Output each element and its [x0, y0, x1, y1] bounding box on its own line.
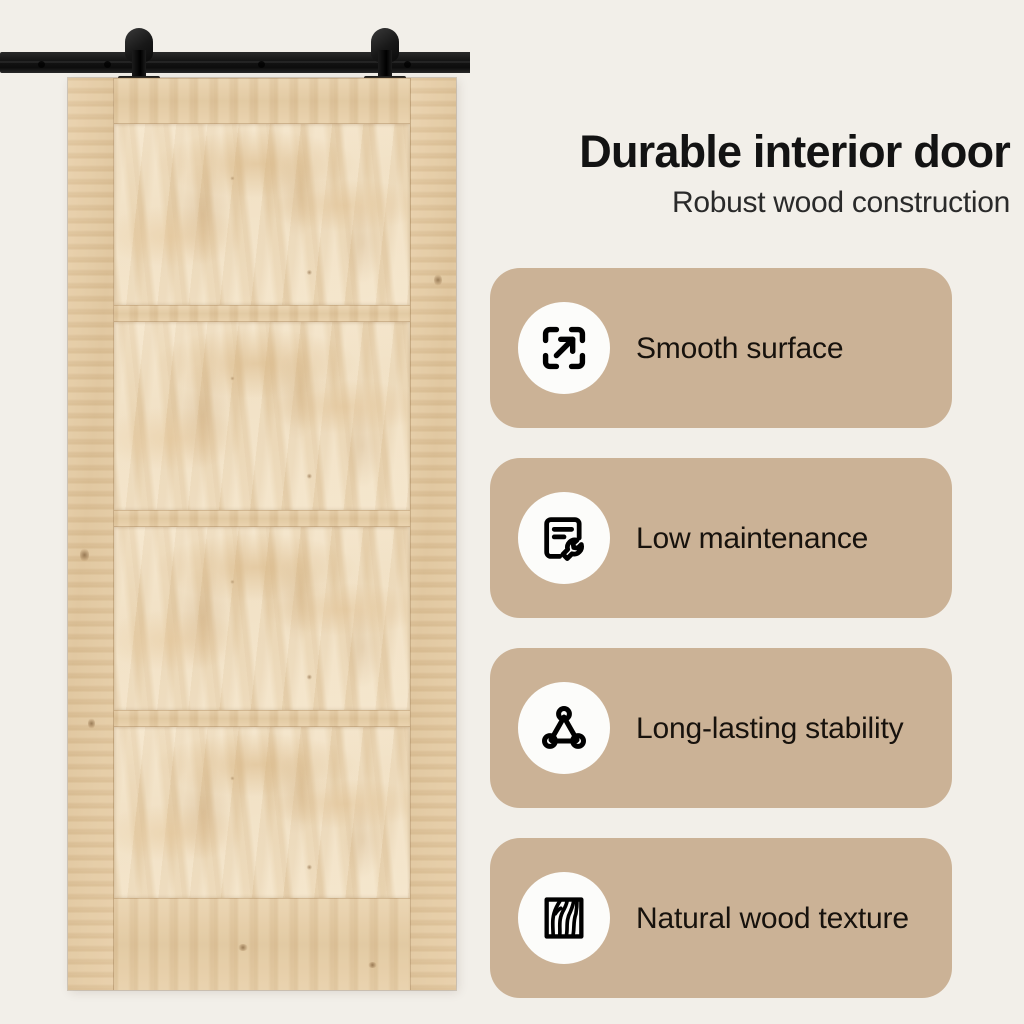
wood-knot	[80, 548, 89, 562]
triangle-nodes-icon	[538, 702, 590, 754]
icon-badge	[518, 302, 610, 394]
feature-card-smooth-surface[interactable]: Smooth surface	[490, 268, 952, 428]
icon-badge	[518, 682, 610, 774]
product-photo	[0, 0, 470, 1024]
info-panel: Durable interior door Robust wood constr…	[470, 0, 1024, 1024]
icon-badge	[518, 872, 610, 964]
door-panel	[114, 124, 410, 305]
feature-card-long-lasting-stability[interactable]: Long-lasting stability	[490, 648, 952, 808]
wood-grain-icon	[538, 892, 590, 944]
door-rail-middle	[114, 510, 410, 527]
wood-knot	[88, 718, 95, 729]
door-stile-right	[410, 78, 456, 990]
page-subtitle: Robust wood construction	[490, 186, 1010, 220]
door-panel	[114, 322, 410, 510]
door-roller-hanger	[368, 28, 402, 84]
door-panel	[114, 727, 410, 898]
track-bolt	[404, 61, 411, 68]
wood-knot	[368, 962, 377, 968]
barn-door-slab	[68, 78, 456, 990]
feature-card-natural-wood-texture[interactable]: Natural wood texture	[490, 838, 952, 998]
feature-label: Long-lasting stability	[636, 712, 903, 745]
icon-badge	[518, 492, 610, 584]
door-rail-middle	[114, 305, 410, 322]
door-rail-bottom	[114, 898, 410, 990]
door-stile-left	[68, 78, 114, 990]
track-bolt	[258, 61, 265, 68]
door-roller-hanger	[122, 28, 156, 84]
document-wrench-icon	[538, 512, 590, 564]
track-bolt	[38, 61, 45, 68]
arrow-expand-square-icon	[538, 322, 590, 374]
feature-card-low-maintenance[interactable]: Low maintenance	[490, 458, 952, 618]
track-bolt	[104, 61, 111, 68]
door-rail-middle	[114, 710, 410, 727]
page-title: Durable interior door	[490, 128, 1010, 175]
feature-list: Smooth surface Low maintenance	[490, 268, 972, 1024]
infographic-canvas: Durable interior door Robust wood constr…	[0, 0, 1024, 1024]
door-panel	[114, 527, 410, 710]
door-rail-top	[114, 78, 410, 124]
wood-knot	[238, 944, 248, 951]
feature-label: Low maintenance	[636, 522, 868, 555]
feature-label: Smooth surface	[636, 332, 843, 365]
feature-label: Natural wood texture	[636, 902, 909, 935]
wood-knot	[434, 274, 442, 286]
